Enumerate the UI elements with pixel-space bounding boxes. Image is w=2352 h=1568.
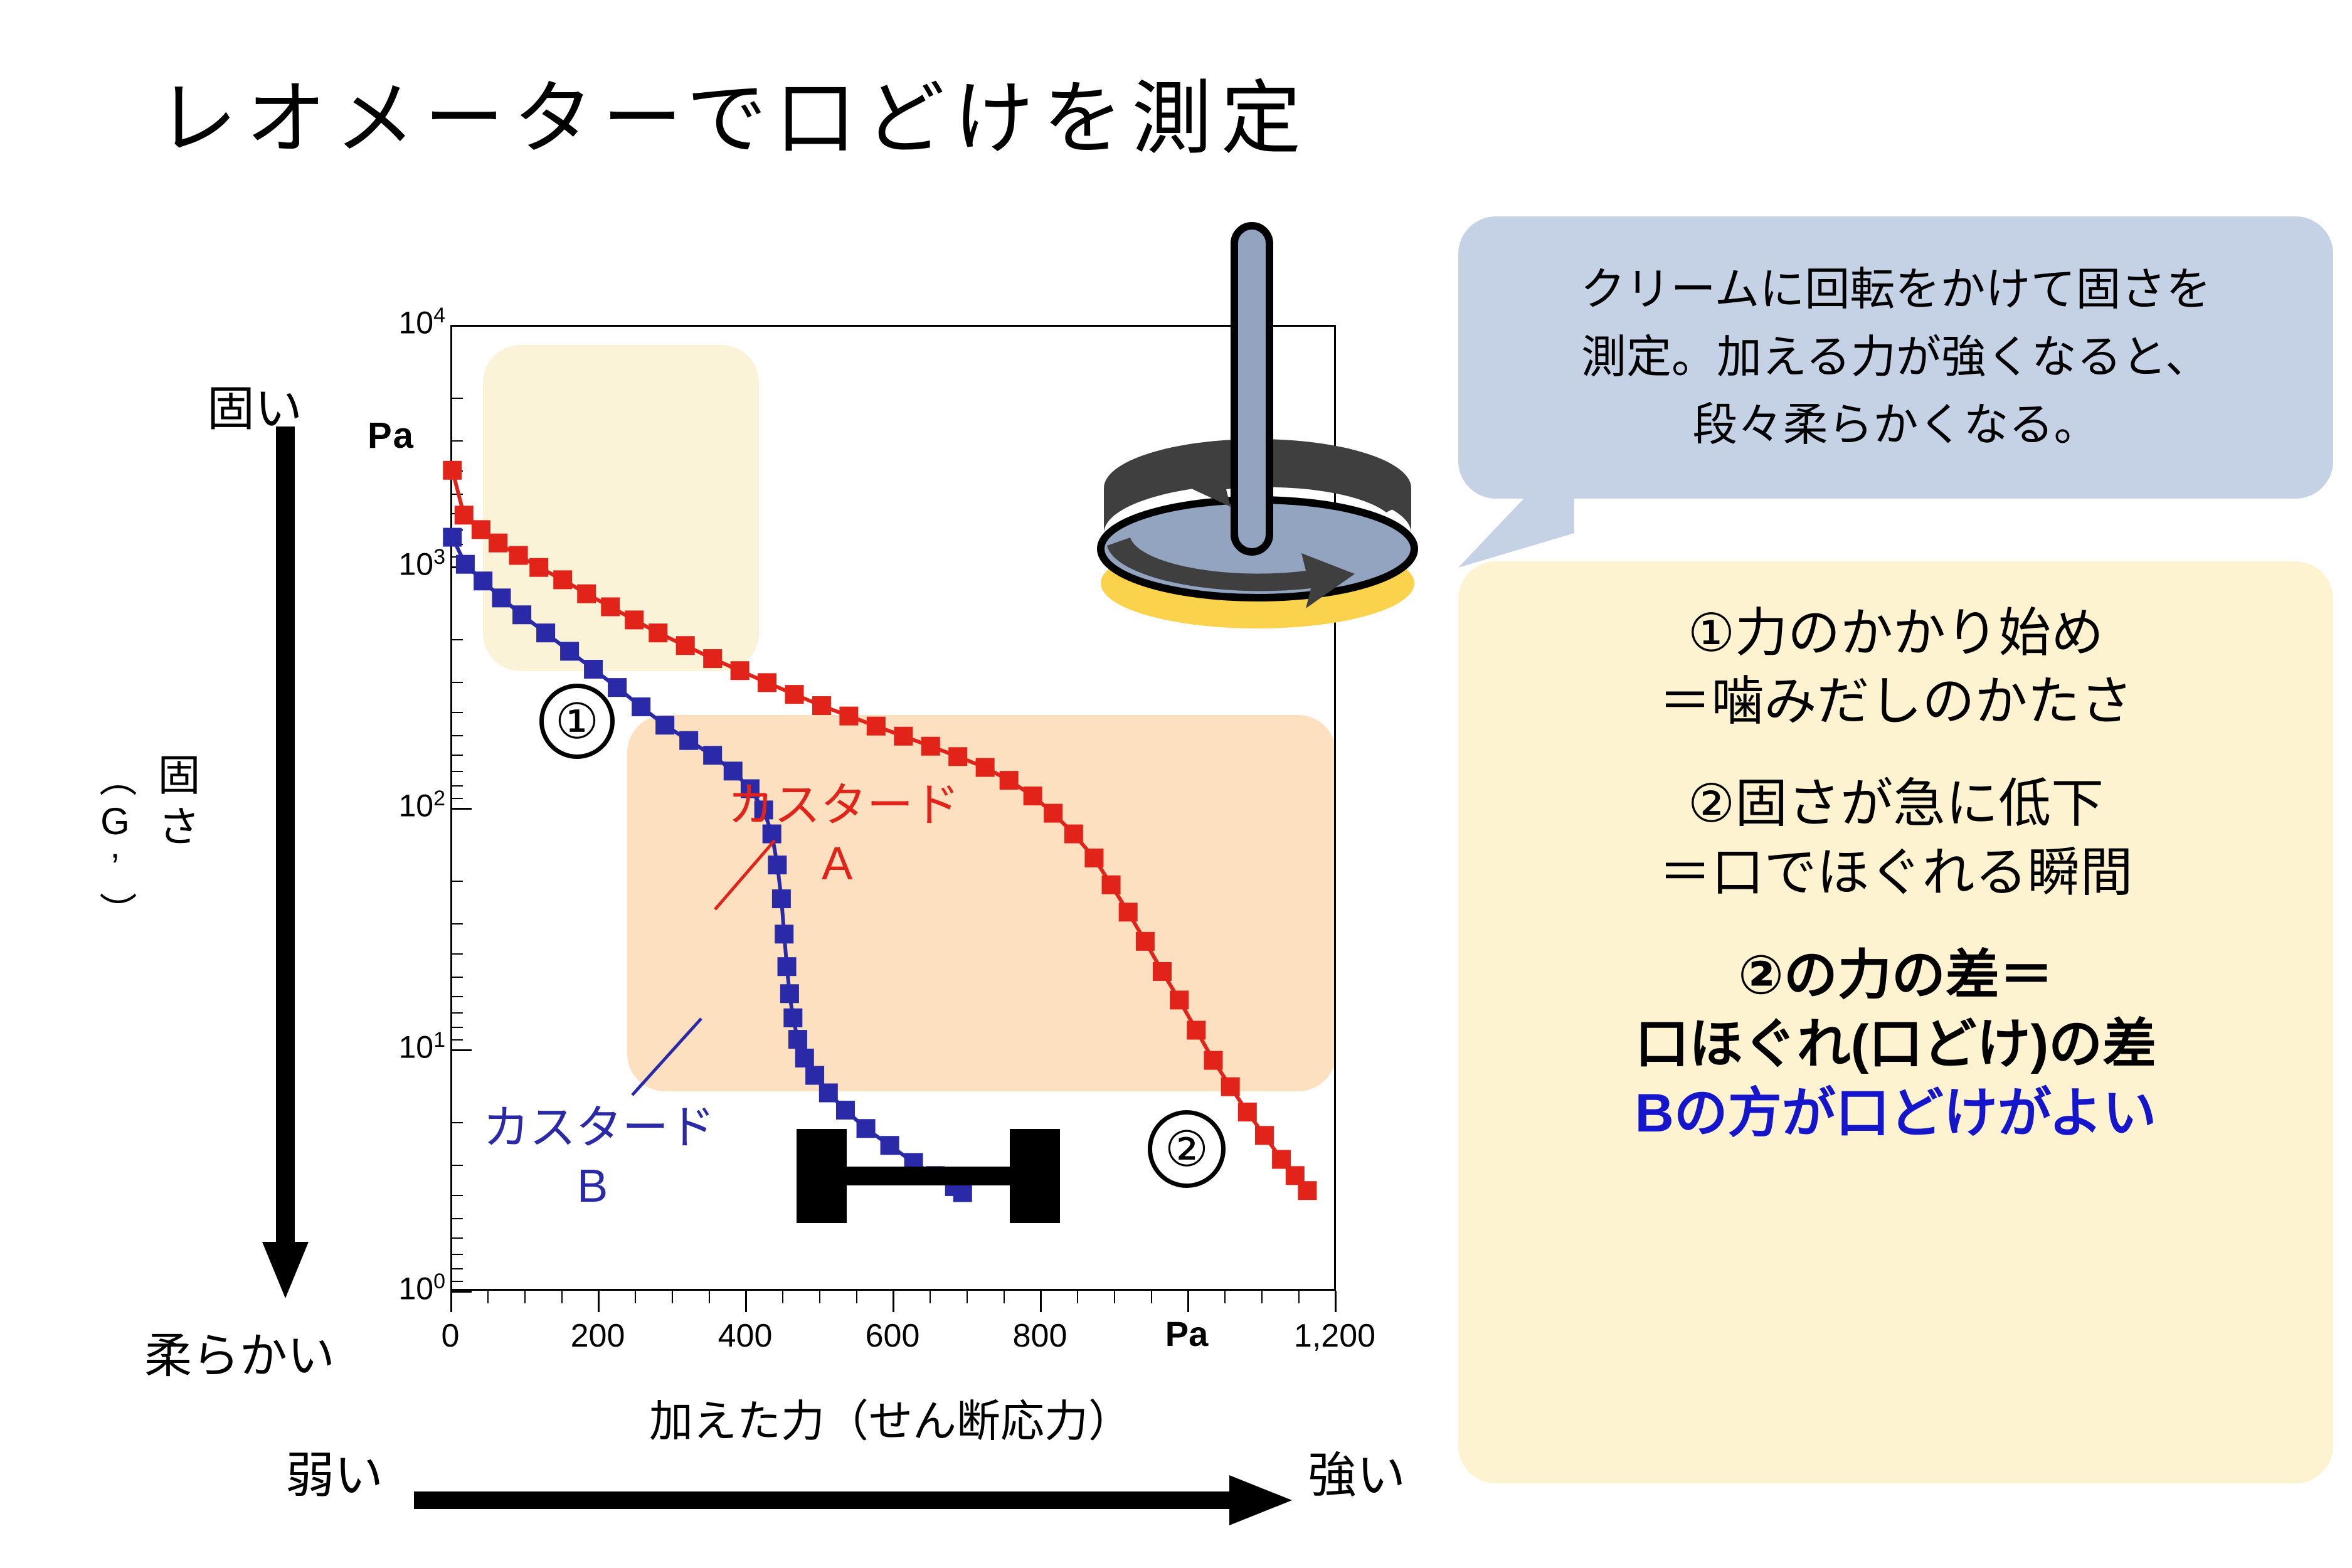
y-tick-minor (450, 977, 463, 978)
y-tick-minor (450, 513, 463, 514)
summary-panel: ①力のかかり始め ＝噛みだしのかたさ ②固さが急に低下 ＝口でほぐれる瞬間 ②の… (1458, 561, 2333, 1483)
x-tick-0 (450, 1291, 452, 1312)
x-tick-minor (672, 1291, 673, 1303)
series-label-a-name: カスタード (728, 779, 960, 831)
label-gprime: （G’） (88, 759, 142, 933)
y-tick-minor (450, 1268, 463, 1269)
x-tick-minor (1114, 1291, 1115, 1303)
y-tick-minor (450, 881, 463, 882)
difference-arrow (797, 1129, 1060, 1223)
x-label-200: 200 (571, 1317, 625, 1355)
series-label-b-letter: B (577, 1157, 715, 1216)
label-stiffness: 固さ (144, 753, 206, 856)
y-tick-minor (450, 785, 463, 787)
x-tick-600 (893, 1291, 894, 1312)
series-label-a-letter: A (822, 835, 960, 893)
x-label-400: 400 (718, 1317, 773, 1355)
stiffness-direction-arrow (251, 426, 339, 1305)
x-tick-minor (930, 1291, 931, 1303)
series-label-b: カスタード B (483, 1099, 715, 1215)
y-tick-minor (450, 494, 463, 495)
y-axis-labels: 104 103 102 101 100 (351, 251, 445, 1317)
y-tick-minor (450, 470, 463, 472)
panel-line-6: 口ほぐれ(口どけ)の差 (1635, 1010, 2156, 1079)
x-tick-minor (635, 1291, 636, 1303)
x-tick-minor (1261, 1291, 1263, 1303)
x-tick-minor (1077, 1291, 1078, 1303)
y-tick-minor (450, 798, 463, 799)
y-axis-unit: Pa (368, 415, 415, 457)
y-tick-minor (450, 1237, 463, 1239)
y-tick-minor (450, 1012, 463, 1014)
y-label-1e4: 104 (398, 304, 445, 341)
x-tick-minor (487, 1291, 489, 1303)
x-tick-minor (561, 1291, 563, 1303)
force-direction-arrow (414, 1461, 1305, 1543)
y-tick-minor (450, 1195, 463, 1196)
x-axis-unit: Pa (1165, 1313, 1209, 1354)
y-tick-minor (450, 1122, 463, 1123)
x-tick-minor (1298, 1291, 1300, 1303)
y-tick-minor (450, 1254, 463, 1255)
panel-line-1: ①力のかかり始め (1688, 599, 2104, 667)
y-tick-minor (450, 529, 463, 531)
label-strong: 強い (1308, 1436, 1406, 1507)
y-tick-minor (450, 639, 463, 640)
x-tick-1000 (1187, 1291, 1189, 1312)
leader-line-a (709, 834, 784, 916)
series-label-b-name: カスタード (483, 1101, 715, 1153)
y-tick-1e2 (450, 808, 472, 810)
y-tick-minor (450, 1281, 463, 1282)
y-tick-minor (450, 923, 463, 924)
x-tick-400 (745, 1291, 747, 1312)
callout-line-2: 測定。加える力が強くなると、 (1581, 324, 2212, 391)
y-tick-minor (450, 1039, 463, 1041)
x-tick-minor (1151, 1291, 1152, 1303)
y-label-1e2: 102 (398, 787, 445, 824)
x-label-600: 600 (866, 1317, 920, 1355)
y-tick-minor (450, 755, 463, 756)
x-tick-minor (524, 1291, 526, 1303)
x-tick-minor (856, 1291, 857, 1303)
x-tick-800 (1040, 1291, 1042, 1312)
panel-line-2: ＝噛みだしのかたさ (1658, 667, 2132, 736)
y-tick-minor (450, 440, 463, 442)
y-tick-1e4 (450, 325, 472, 327)
y-tick-minor (450, 1165, 463, 1166)
y-tick-minor (450, 996, 463, 997)
y-tick-minor (450, 771, 463, 772)
y-tick-minor (450, 1027, 463, 1028)
callout-text: クリームに回転をかけて固さを 測定。加える力が強くなると、 段々柔らかくなる。 (1545, 256, 2247, 459)
x-tick-200 (598, 1291, 600, 1312)
marker-one: ① (539, 684, 615, 759)
y-label-1e0: 100 (398, 1269, 445, 1307)
y-tick-1e1 (450, 1049, 472, 1051)
x-label-1200: 1,200 (1294, 1317, 1375, 1355)
marker-two: ② (1148, 1110, 1226, 1188)
y-tick-1e3 (450, 566, 472, 568)
callout-line-3: 段々柔らかくなる。 (1581, 391, 2212, 459)
y-tick-minor (450, 735, 463, 736)
infographic-page: レオメーターで口どけを測定 (0, 0, 2352, 1568)
x-tick-minor (967, 1291, 968, 1303)
label-soft: 柔らかい (144, 1317, 335, 1386)
panel-line-7: Bの方が口どけがよい (1635, 1079, 2157, 1148)
panel-line-4: ＝口でほぐれる瞬間 (1658, 839, 2132, 907)
y-tick-minor (450, 712, 463, 713)
callout-line-1: クリームに回転をかけて固さを (1581, 256, 2212, 324)
y-label-1e1: 101 (398, 1028, 445, 1066)
y-tick-minor (450, 1218, 463, 1219)
x-label-800: 800 (1013, 1317, 1067, 1355)
x-tick-minor (1224, 1291, 1226, 1303)
x-tick-1200 (1335, 1291, 1337, 1312)
y-tick-minor (450, 556, 463, 558)
x-tick-minor (819, 1291, 820, 1303)
y-tick-minor (450, 953, 463, 955)
leader-line-b (627, 1014, 709, 1101)
page-title: レオメーターで口どけを測定 (157, 53, 1310, 169)
panel-line-3: ②固さが急に低下 (1688, 770, 2104, 838)
y-label-1e3: 103 (398, 545, 445, 583)
x-tick-minor (1004, 1291, 1005, 1303)
x-tick-minor (782, 1291, 783, 1303)
label-weak: 弱い (285, 1436, 383, 1507)
y-tick-minor (450, 398, 463, 399)
x-axis-caption: 加えた力（せん断応力） (649, 1386, 1132, 1449)
explanation-callout: クリームに回転をかけて固さを 測定。加える力が強くなると、 段々柔らかくなる。 (1458, 216, 2333, 499)
y-tick-minor (450, 544, 463, 545)
x-tick-minor (709, 1291, 710, 1303)
y-tick-minor (450, 682, 463, 683)
x-label-0: 0 (442, 1317, 460, 1355)
y-tick-1e0 (450, 1291, 472, 1293)
panel-line-5: ②の力の差＝ (1738, 941, 2053, 1010)
rheometer-shaft (1234, 226, 1269, 552)
